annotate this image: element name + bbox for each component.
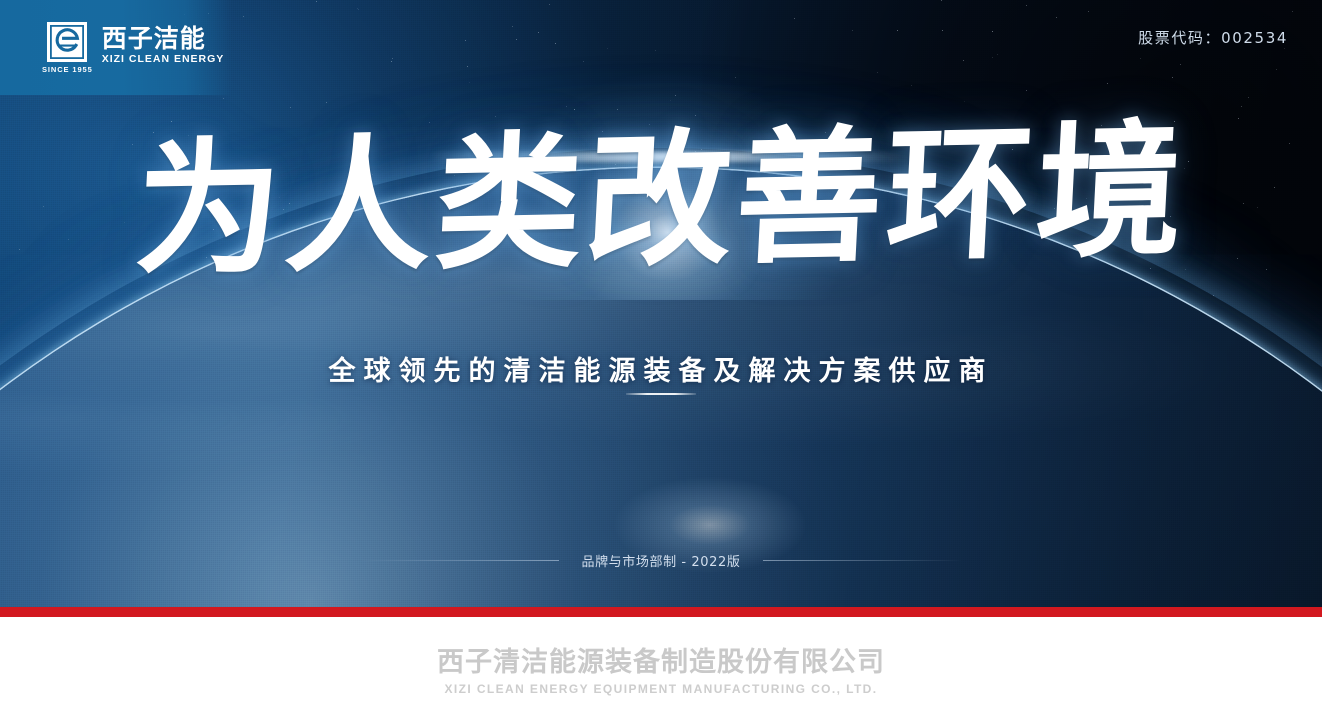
logo-since-label: SINCE 1955 (42, 65, 93, 74)
logo-mark-column: SINCE 1955 (42, 22, 93, 74)
footer-company-en: XIZI CLEAN ENERGY EQUIPMENT MANUFACTURIN… (445, 682, 878, 696)
brand-logo[interactable]: SINCE 1955 西子洁能 XIZI CLEAN ENERGY (0, 0, 240, 95)
logo-name-en: XIZI CLEAN ENERGY (102, 53, 225, 65)
caption-row: 品牌与市场部制 - 2022版 (0, 551, 1322, 570)
caption-label: 品牌与市场部制 - 2022版 (581, 551, 740, 570)
logo-name-cn: 西子洁能 (102, 25, 225, 52)
red-divider (0, 607, 1322, 617)
xizi-e-emblem-icon (47, 22, 87, 62)
hero-section: SINCE 1955 西子洁能 XIZI CLEAN ENERGY 股票代码：0… (0, 0, 1322, 608)
footer-company-cn: 西子清洁能源装备制造股份有限公司 (437, 640, 885, 679)
logo-text-column: 西子洁能 XIZI CLEAN ENERGY (102, 25, 225, 65)
caption-rule-right (763, 560, 963, 561)
slide-cover: SINCE 1955 西子洁能 XIZI CLEAN ENERGY 股票代码：0… (0, 0, 1322, 718)
hero-headline: 为人类改善环境 (0, 115, 1322, 286)
stock-code-label: 股票代码：002534 (1138, 27, 1288, 48)
subtitle-divider (626, 393, 696, 395)
footer-section: 西子清洁能源装备制造股份有限公司 XIZI CLEAN ENERGY EQUIP… (0, 617, 1322, 718)
hero-subtitle: 全球领先的清洁能源装备及解决方案供应商 (0, 349, 1322, 388)
caption-rule-left (359, 560, 559, 561)
